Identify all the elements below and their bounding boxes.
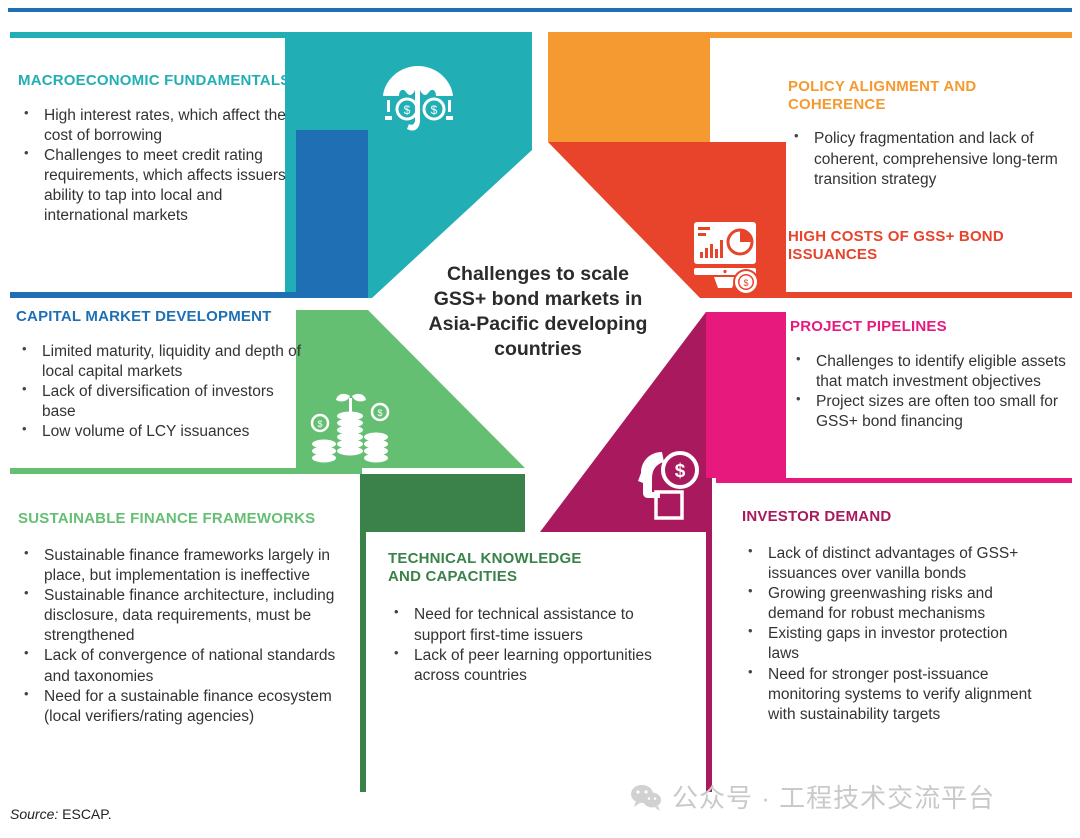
bullet-list-policy-alignment-and-coherence: Policy fragmentation and lack of coheren…	[788, 129, 1074, 189]
blue-rule-capital	[10, 292, 362, 298]
section-title-technical-knowledge-and-capacities: TECHNICAL KNOWLEDGE AND CAPACITIES	[388, 550, 618, 585]
bullet-item: Need for stronger post-issuance monitori…	[742, 665, 1042, 725]
bullet-item: Lack of distinct advantages of GSS+ issu…	[742, 544, 1042, 584]
dark-green-block	[360, 474, 525, 532]
bullet-item: Lack of peer learning opportunities acro…	[388, 646, 678, 686]
source-value: ESCAP.	[62, 806, 112, 822]
orange-rule	[710, 32, 1072, 38]
panel-policy-alignment-and-coherence: POLICY ALIGNMENT AND COHERENCE Policy fr…	[788, 78, 1074, 190]
bullet-item: High interest rates, which affect the co…	[18, 106, 308, 146]
center-title-line-3: Asia-Pacific developing	[404, 312, 672, 337]
svg-text:$: $	[743, 278, 748, 288]
watermark: 公众号 · 工程技术交流平台	[630, 778, 995, 815]
bullet-item: Growing greenwashing risks and demand fo…	[742, 584, 1042, 624]
svg-text:$: $	[431, 103, 438, 117]
bullet-item: Policy fragmentation and lack of coheren…	[788, 129, 1074, 189]
panel-macroeconomic-fundamentals: MACROECONOMIC FUNDAMENTALS High interest…	[18, 72, 308, 227]
section-title-sustainable-finance-frameworks: SUSTAINABLE FINANCE FRAMEWORKS	[18, 510, 348, 528]
section-title-capital-market-development: CAPITAL MARKET DEVELOPMENT	[16, 308, 306, 326]
bullet-item: Sustainable finance frameworks largely i…	[18, 546, 348, 586]
svg-text:$: $	[377, 408, 382, 418]
bullet-list-sustainable-finance-frameworks: Sustainable finance frameworks largely i…	[18, 546, 348, 727]
light-green-rule	[10, 468, 362, 474]
bullet-list-investor-demand: Lack of distinct advantages of GSS+ issu…	[742, 544, 1042, 725]
panel-capital-market-development: CAPITAL MARKET DEVELOPMENT Limited matur…	[16, 308, 306, 442]
bullet-list-macroeconomic-fundamentals: High interest rates, which affect the co…	[18, 106, 308, 227]
center-title-line-1: Challenges to scale	[404, 262, 672, 287]
svg-text:$: $	[675, 461, 686, 482]
pink-shape	[706, 312, 786, 478]
bullet-item: Lack of convergence of national standard…	[18, 646, 348, 686]
bullet-list-project-pipelines: Challenges to identify eligible assets t…	[790, 352, 1075, 433]
source-label: Source:	[10, 806, 58, 822]
svg-text:$: $	[404, 103, 411, 117]
panel-technical-knowledge-and-capacities: TECHNICAL KNOWLEDGE AND CAPACITIES Need …	[388, 550, 678, 686]
panel-sustainable-finance-frameworks: SUSTAINABLE FINANCE FRAMEWORKS Sustainab…	[18, 510, 348, 727]
watermark-text: 公众号 · 工程技术交流平台	[672, 778, 995, 815]
bullet-item: Challenges to identify eligible assets t…	[790, 352, 1075, 392]
bullet-list-capital-market-development: Limited maturity, liquidity and depth of…	[16, 342, 306, 443]
bullet-item: Existing gaps in investor protection law…	[742, 624, 1042, 664]
bullet-item: Limited maturity, liquidity and depth of…	[16, 342, 306, 382]
bullet-item: Low volume of LCY issuances	[16, 422, 306, 442]
source-note: Source: ESCAP.	[10, 806, 112, 822]
center-title: Challenges to scale GSS+ bond markets in…	[404, 262, 672, 362]
panel-investor-demand: INVESTOR DEMAND Lack of distinct advanta…	[742, 508, 1042, 725]
infographic-root: $ $ $	[0, 0, 1080, 838]
section-title-high-costs-of-gss-bond-issuances: HIGH COSTS OF GSS+ BOND ISSUANCES	[788, 228, 1018, 263]
center-title-line-4: countries	[404, 337, 672, 362]
section-title-macroeconomic-fundamentals: MACROECONOMIC FUNDAMENTALS	[18, 72, 308, 90]
center-title-line-2: GSS+ bond markets in	[404, 287, 672, 312]
bullet-item: Challenges to meet credit rating require…	[18, 146, 308, 227]
wechat-icon	[630, 783, 662, 811]
panel-high-costs-of-gss-bond-issuances: HIGH COSTS OF GSS+ BOND ISSUANCES	[788, 228, 1018, 263]
bullet-item: Project sizes are often too small for GS…	[790, 392, 1075, 432]
panel-project-pipelines: PROJECT PIPELINES Challenges to identify…	[790, 318, 1075, 432]
bullet-item: Need for technical assistance to support…	[388, 605, 678, 645]
magenta-vbar	[706, 478, 712, 792]
bullet-item: Need for a sustainable finance ecosystem…	[18, 687, 348, 727]
orange-block	[548, 32, 710, 142]
bullet-item: Sustainable finance architecture, includ…	[18, 586, 348, 646]
bullet-list-technical-knowledge-and-capacities: Need for technical assistance to support…	[388, 605, 678, 686]
red-rule	[710, 292, 1072, 298]
dark-green-vbar	[360, 474, 366, 792]
section-title-investor-demand: INVESTOR DEMAND	[742, 508, 1042, 526]
section-title-policy-alignment-and-coherence: POLICY ALIGNMENT AND COHERENCE	[788, 78, 1074, 113]
pink-rule	[716, 478, 1072, 483]
svg-text:$: $	[317, 419, 322, 429]
bullet-item: Lack of diversification of investors bas…	[16, 382, 306, 422]
section-title-project-pipelines: PROJECT PIPELINES	[790, 318, 1075, 336]
